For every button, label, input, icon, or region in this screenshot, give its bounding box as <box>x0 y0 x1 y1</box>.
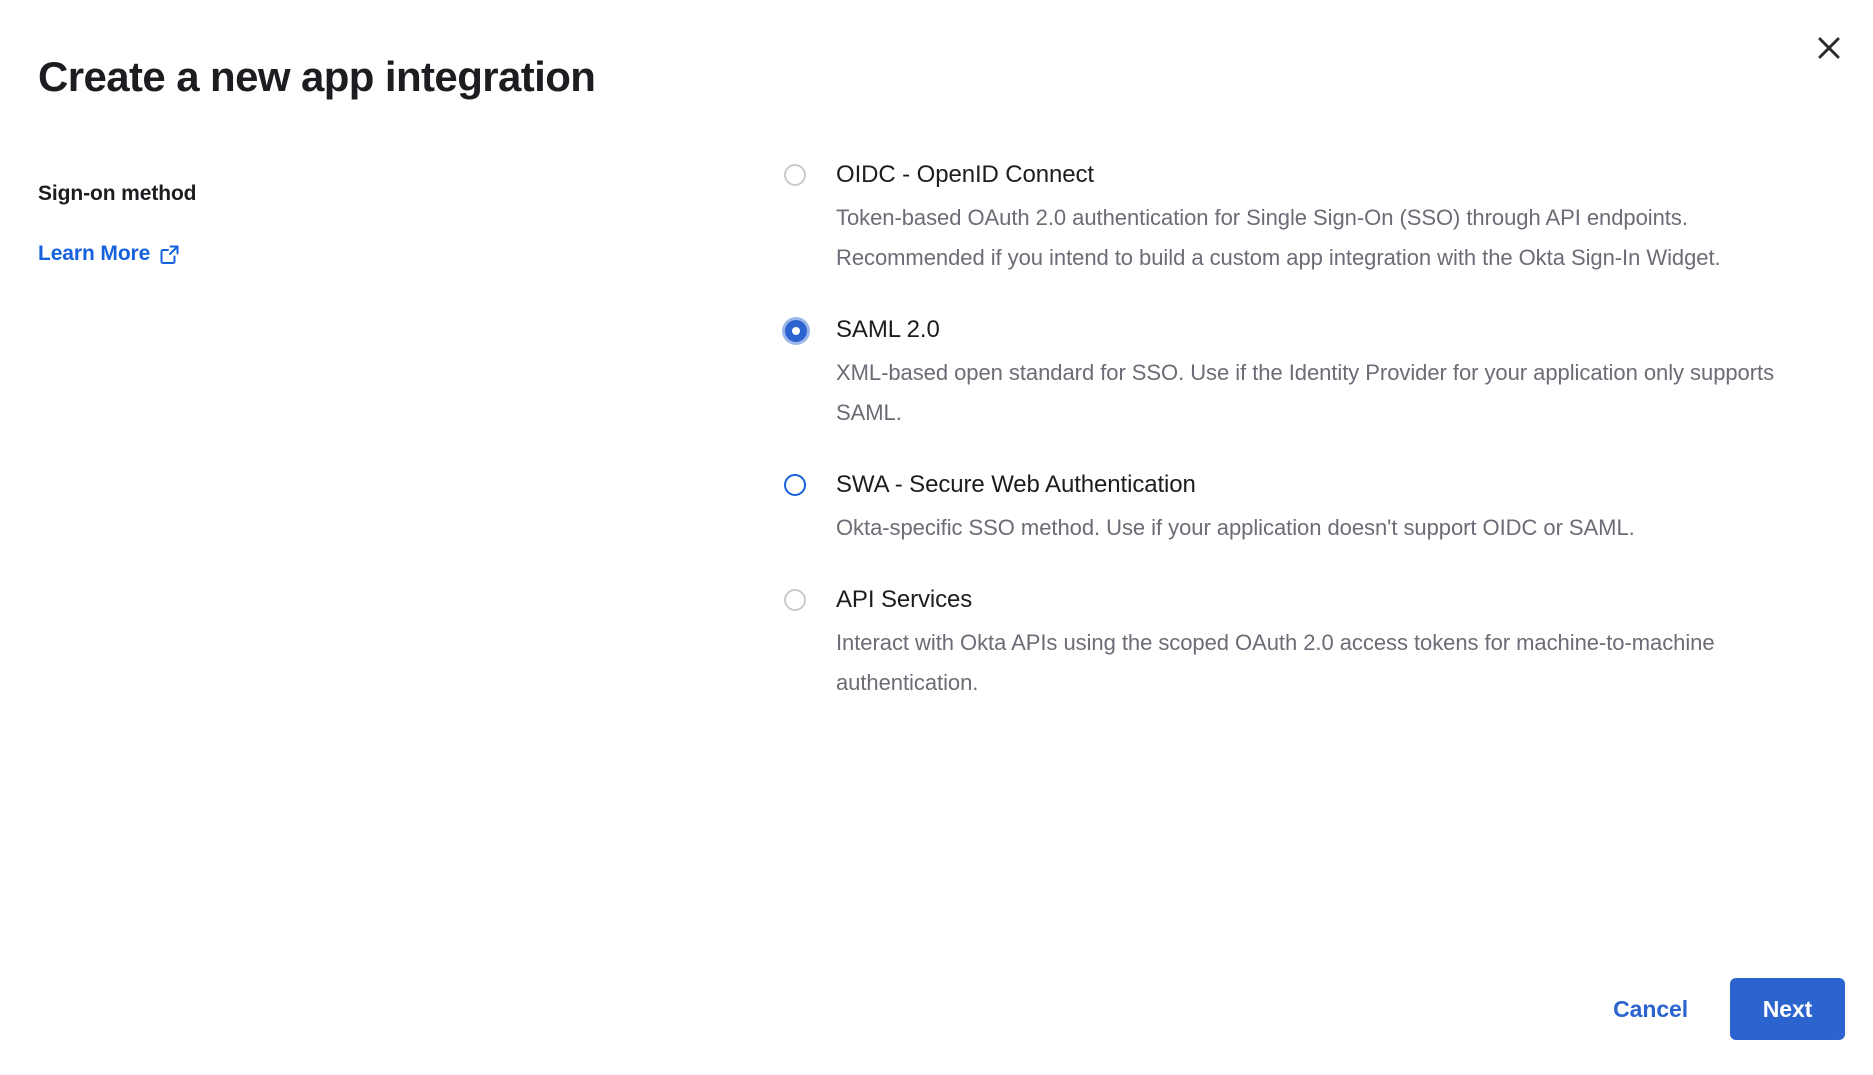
sign-on-method-label: Sign-on method <box>38 180 638 208</box>
create-app-integration-dialog: Create a new app integration Sign-on met… <box>0 0 1873 1075</box>
option-label: SWA - Secure Web Authentication <box>836 470 1842 500</box>
close-icon[interactable] <box>1801 20 1857 76</box>
learn-more-label: Learn More <box>38 240 150 268</box>
option-saml[interactable]: SAML 2.0 XML-based open standard for SSO… <box>782 315 1842 433</box>
option-description: Token-based OAuth 2.0 authentication for… <box>836 198 1836 278</box>
option-swa[interactable]: SWA - Secure Web Authentication Okta-spe… <box>782 470 1842 548</box>
cancel-button[interactable]: Cancel <box>1597 986 1704 1033</box>
radio-saml-icon[interactable] <box>782 317 810 345</box>
learn-more-link[interactable]: Learn More <box>38 240 180 268</box>
page-title: Create a new app integration <box>38 52 595 102</box>
option-description: Okta-specific SSO method. Use if your ap… <box>836 508 1836 548</box>
sign-on-method-options: OIDC - OpenID Connect Token-based OAuth … <box>782 160 1842 703</box>
option-label: SAML 2.0 <box>836 315 1842 345</box>
radio-api-services-icon[interactable] <box>782 587 808 613</box>
option-oidc[interactable]: OIDC - OpenID Connect Token-based OAuth … <box>782 160 1842 278</box>
option-description: XML-based open standard for SSO. Use if … <box>836 353 1836 433</box>
option-label: API Services <box>836 585 1842 615</box>
option-api-services[interactable]: API Services Interact with Okta APIs usi… <box>782 585 1842 703</box>
external-link-icon <box>159 244 180 265</box>
option-label: OIDC - OpenID Connect <box>836 160 1842 190</box>
radio-oidc-icon[interactable] <box>782 162 808 188</box>
sign-on-method-column: Sign-on method Learn More <box>38 180 638 268</box>
radio-swa-icon[interactable] <box>782 472 808 498</box>
dialog-footer: Cancel Next <box>1597 978 1845 1040</box>
option-description: Interact with Okta APIs using the scoped… <box>836 623 1836 703</box>
next-button[interactable]: Next <box>1730 978 1845 1040</box>
